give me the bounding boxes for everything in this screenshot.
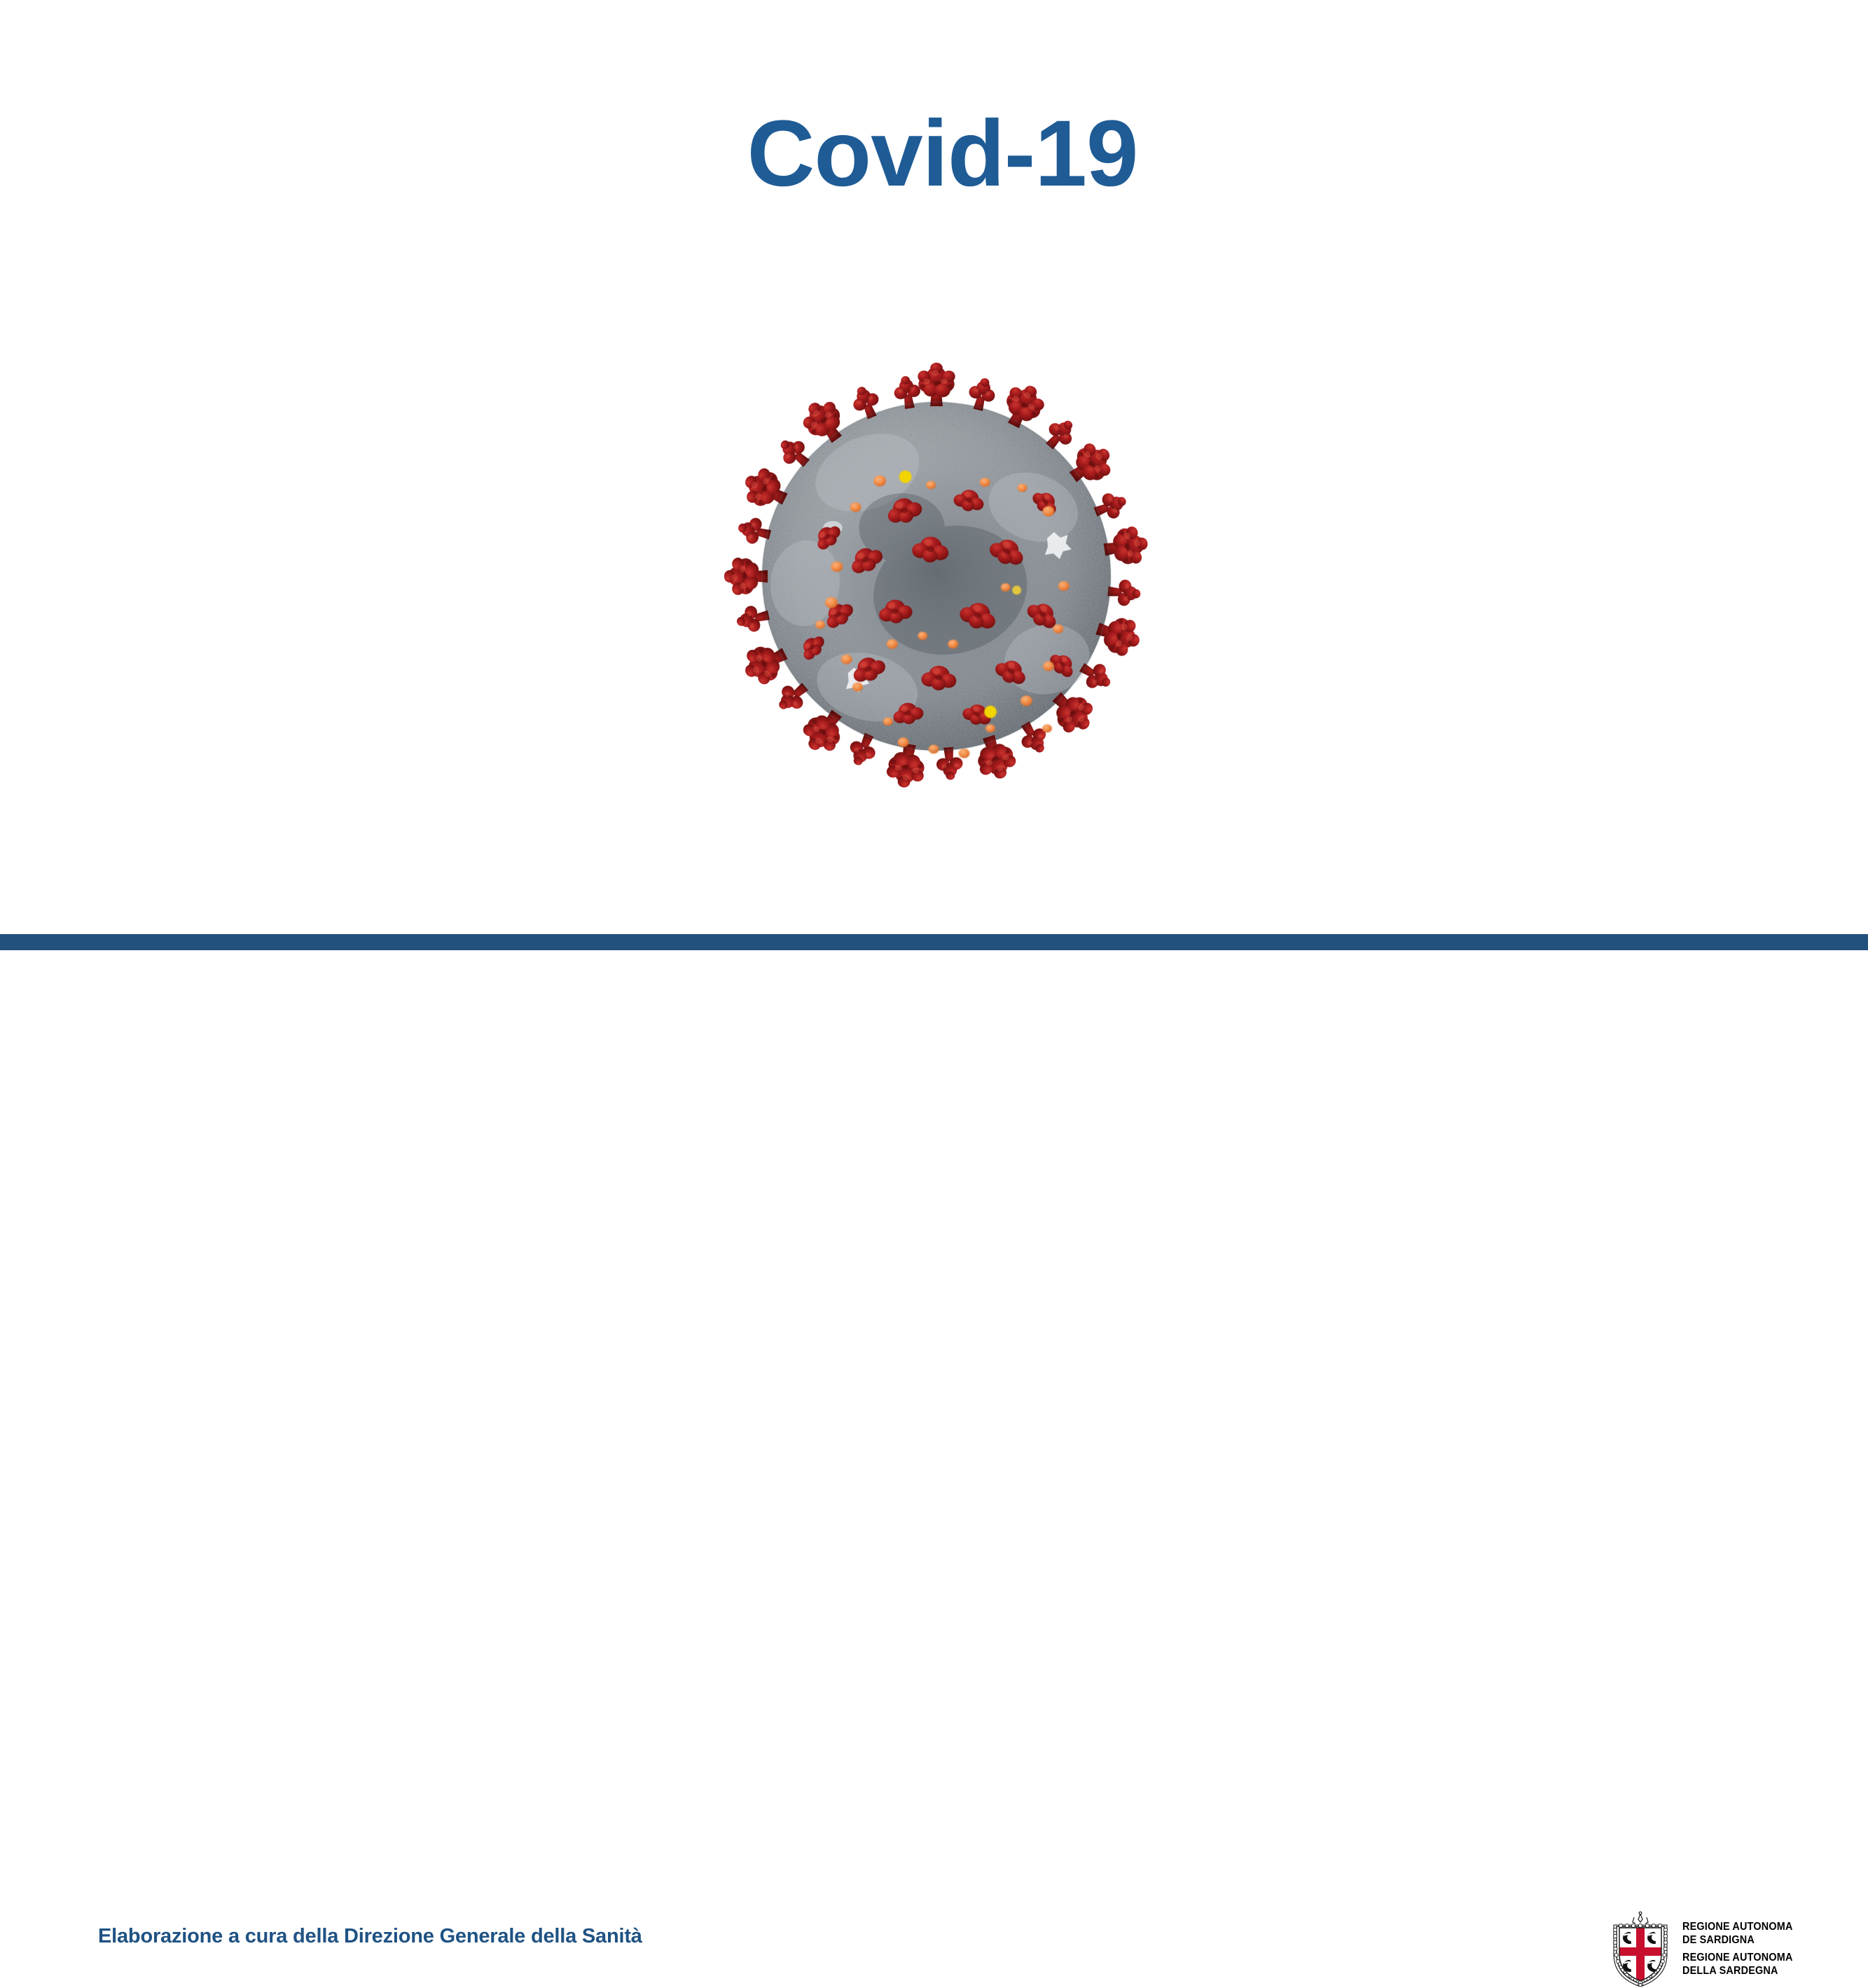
page-title: Covid-19 (747, 105, 1138, 204)
logo-line-2: DE SARDIGNA (1682, 1934, 1793, 1947)
regione-sardegna-logo: REGIONE AUTONOMA DE SARDIGNA REGIONE AUT… (1608, 1911, 1818, 1988)
logo-line-3: REGIONE AUTONOMA (1682, 1952, 1793, 1965)
slide-canvas: Covid-19 (0, 0, 1868, 1050)
crest-plume (1633, 1912, 1648, 1924)
footer: Elaborazione a cura della Direzione Gene… (0, 950, 1868, 1050)
coronavirus-illustration (660, 300, 1213, 853)
footer-divider-bar (0, 934, 1868, 950)
coat-of-arms-icon (1608, 1911, 1673, 1987)
footer-credit-text: Elaborazione a cura della Direzione Gene… (98, 1925, 642, 1948)
title-block: Covid-19 (0, 105, 1868, 204)
logo-line-1: REGIONE AUTONOMA (1682, 1921, 1793, 1934)
logo-line-4: DELLA SARDEGNA (1682, 1965, 1793, 1978)
coronavirus-svg (660, 300, 1213, 853)
logo-wordmark: REGIONE AUTONOMA DE SARDIGNA REGIONE AUT… (1682, 1921, 1801, 1977)
cross-horizontal (1618, 1947, 1663, 1956)
